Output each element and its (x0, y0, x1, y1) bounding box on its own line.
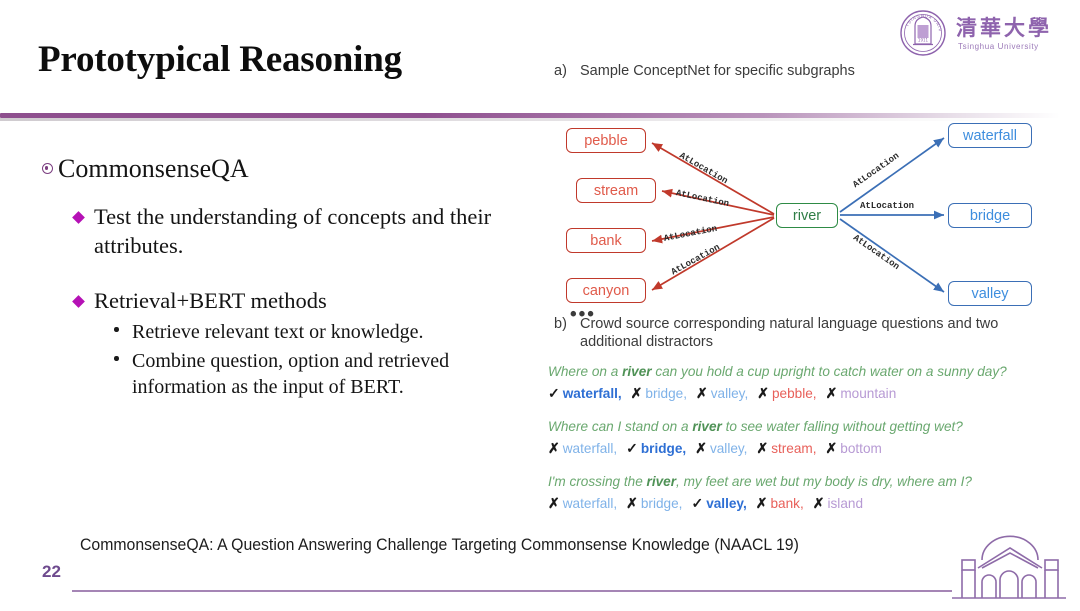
cross-icon: ✗ (548, 495, 560, 511)
outline-level3a-label: Retrieve relevant text or knowledge. (132, 319, 424, 345)
qa-group: Where on a river can you hold a cup upri… (548, 362, 1058, 405)
qa-answer-option[interactable]: stream, (771, 441, 816, 456)
qa-answer-row: ✓waterfall,✗bridge,✗valley,✗pebble,✗moun… (548, 382, 1058, 405)
outline-level1-commonsenseqa: CommonsenseQA (36, 152, 546, 186)
qa-question: Where can I stand on a river to see wate… (548, 417, 1058, 437)
qa-group: I'm crossing the river, my feet are wet … (548, 472, 1058, 515)
outline-level2-retrieval-bert: Retrieval+BERT methods (74, 286, 546, 315)
page-number: 22 (42, 562, 61, 582)
svg-text:1911: 1911 (918, 38, 929, 43)
footer-divider (72, 590, 952, 592)
qa-answer-option[interactable]: bottom (840, 441, 882, 456)
diamond-bullet-icon (74, 202, 94, 222)
graph-node-stream[interactable]: stream (576, 178, 656, 203)
cross-icon: ✗ (548, 440, 560, 456)
cross-icon: ✗ (696, 385, 708, 401)
edge-label-bridge: AtLocation (860, 201, 914, 211)
qa-answer-option[interactable]: valley, (706, 496, 747, 511)
caption-b-text: Crowd source corresponding natural langu… (580, 315, 1034, 351)
cross-icon: ✗ (631, 385, 643, 401)
outline-level3-combine-question: Combine question, option and retrieved i… (114, 348, 546, 400)
qa-list: Where on a river can you hold a cup upri… (548, 362, 1058, 527)
qa-answer-option[interactable]: bridge, (641, 496, 683, 511)
cross-icon: ✗ (826, 440, 838, 456)
qa-answer-option[interactable]: valley, (711, 386, 749, 401)
qa-answer-option[interactable]: waterfall, (563, 441, 617, 456)
figure-caption-a: a) Sample ConceptNet for specific subgra… (554, 62, 1034, 80)
cross-icon: ✗ (813, 495, 825, 511)
tsinghua-logo: 1911 TSINGHUA UNIVERSITY 清華大學 Tsinghua U… (896, 8, 1062, 58)
cross-icon: ✗ (695, 440, 707, 456)
graph-node-bridge[interactable]: bridge (948, 203, 1032, 228)
qa-group: Where can I stand on a river to see wate… (548, 417, 1058, 460)
qa-answer-option[interactable]: bridge, (645, 386, 687, 401)
qa-question: I'm crossing the river, my feet are wet … (548, 472, 1058, 492)
outline-content: CommonsenseQA Test the understanding of … (36, 152, 546, 400)
spacer (36, 260, 546, 286)
cross-icon: ✗ (757, 385, 769, 401)
outline-level1-label: CommonsenseQA (58, 152, 249, 186)
check-icon: ✓ (626, 440, 638, 456)
conceptnet-graph: pebble stream bank canyon river waterfal… (548, 88, 1064, 308)
page-title: Prototypical Reasoning (38, 38, 402, 81)
tsinghua-auditorium-icon (952, 532, 1072, 606)
qa-question: Where on a river can you hold a cup upri… (548, 362, 1058, 382)
qa-answer-option[interactable]: island (827, 496, 863, 511)
graph-node-river[interactable]: river (776, 203, 838, 228)
qa-answer-row: ✗waterfall,✗bridge,✓valley,✗bank,✗island (548, 492, 1058, 515)
logo-chinese-text: 清華大學 (956, 12, 1052, 42)
qa-answer-row: ✗waterfall,✓bridge,✗valley,✗stream,✗bott… (548, 437, 1058, 460)
graph-node-canyon[interactable]: canyon (566, 278, 646, 303)
graph-node-pebble[interactable]: pebble (566, 128, 646, 153)
qa-answer-option[interactable]: valley, (710, 441, 748, 456)
check-icon: ✓ (691, 495, 703, 511)
caption-a-text: Sample ConceptNet for specific subgraphs (580, 62, 855, 80)
cross-icon: ✗ (756, 440, 768, 456)
caption-a-marker: a) (554, 62, 580, 80)
diamond-bullet-icon (74, 286, 94, 306)
graph-node-waterfall[interactable]: waterfall (948, 123, 1032, 148)
check-icon: ✓ (548, 385, 560, 401)
outline-level2b-label: Retrieval+BERT methods (94, 286, 327, 315)
cross-icon: ✗ (626, 495, 638, 511)
ring-bullet-icon (36, 152, 58, 174)
outline-level2-test-understanding: Test the understanding of concepts and t… (74, 202, 546, 260)
cross-icon: ✗ (826, 385, 838, 401)
outline-level3-retrieve-text: Retrieve relevant text or knowledge. (114, 319, 546, 345)
qa-answer-option[interactable]: pebble, (772, 386, 817, 401)
qa-answer-option[interactable]: bridge, (641, 441, 686, 456)
qa-answer-option[interactable]: waterfall, (563, 386, 622, 401)
outline-level3b-label: Combine question, option and retrieved i… (132, 348, 512, 400)
logo-english-text: Tsinghua University (958, 42, 1039, 51)
caption-b-marker: b) (554, 315, 580, 351)
graph-node-bank[interactable]: bank (566, 228, 646, 253)
outline-level2a-label: Test the understanding of concepts and t… (94, 202, 524, 260)
figure-caption-b: b) Crowd source corresponding natural la… (554, 315, 1034, 351)
dot-bullet-icon (114, 319, 132, 332)
qa-answer-option[interactable]: bank, (770, 496, 803, 511)
qa-question-keyword: river (622, 364, 651, 379)
cross-icon: ✗ (756, 495, 768, 511)
graph-node-valley[interactable]: valley (948, 281, 1032, 306)
qa-answer-option[interactable]: mountain (840, 386, 896, 401)
qa-question-keyword: river (647, 474, 676, 489)
conceptnet-figure: a) Sample ConceptNet for specific subgra… (548, 62, 1064, 532)
qa-question-keyword: river (692, 419, 721, 434)
citation-text: CommonsenseQA: A Question Answering Chal… (80, 535, 799, 555)
qa-answer-option[interactable]: waterfall, (563, 496, 617, 511)
dot-bullet-icon (114, 348, 132, 361)
